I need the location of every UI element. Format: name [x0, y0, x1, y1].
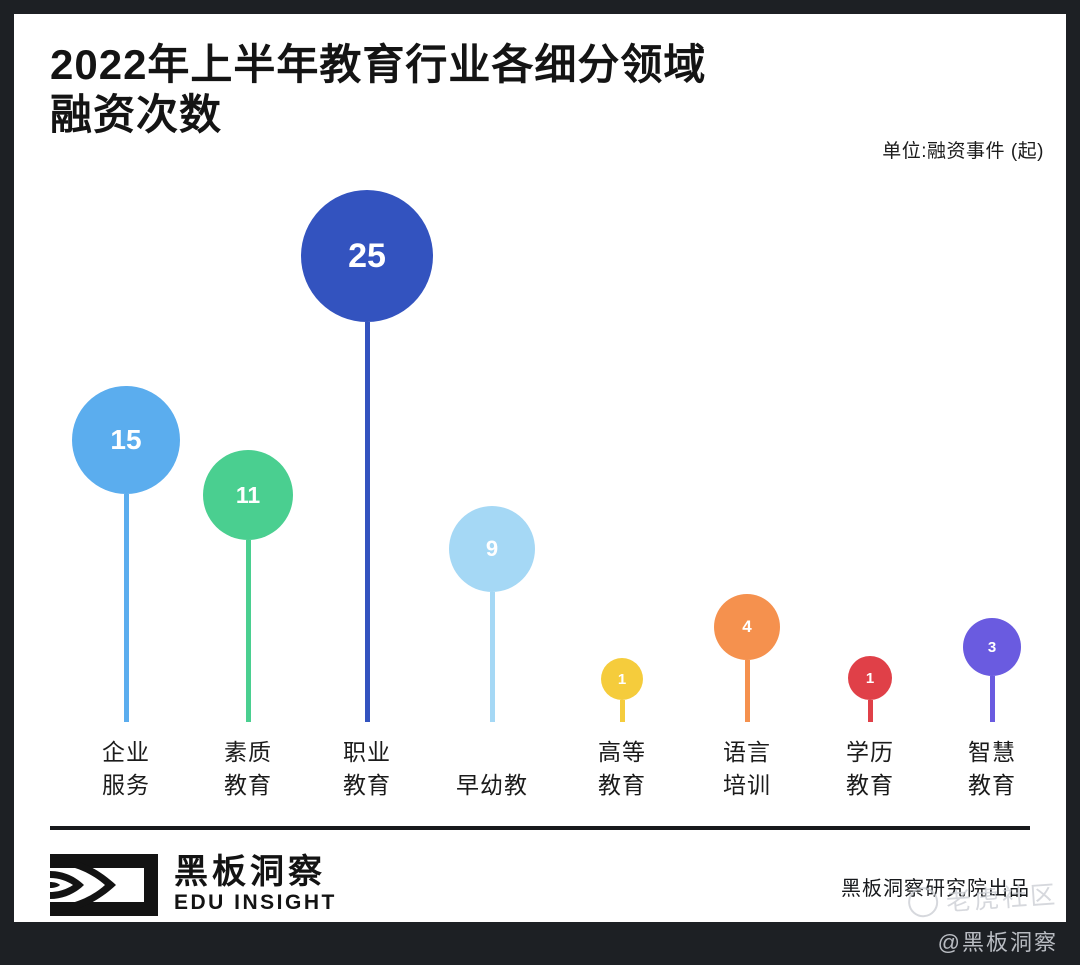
- footer-divider: [50, 826, 1030, 830]
- lollipop-marker[interactable]: 11: [203, 450, 293, 722]
- lollipop-stem: [490, 592, 495, 722]
- chart-column: 15企业 服务: [70, 172, 182, 812]
- lollipop-stem: [868, 700, 873, 722]
- bubble-value: 3: [963, 618, 1021, 676]
- lollipop-marker[interactable]: 9: [449, 506, 535, 722]
- category-label: 智慧 教育: [936, 736, 1048, 802]
- brand-name-cn: 黑板洞察: [174, 854, 337, 890]
- chart-column: 4语言 培训: [691, 172, 803, 812]
- chart-column: 1学历 教育: [814, 172, 926, 812]
- lollipop-marker[interactable]: 4: [714, 594, 780, 722]
- category-label: 企业 服务: [70, 736, 182, 802]
- bubble-value: 1: [601, 658, 643, 700]
- chart-column: 11素质 教育: [192, 172, 304, 812]
- footer: 黑板洞察 EDU INSIGHT 黑板洞察研究院出品: [50, 850, 1030, 918]
- bubble-value: 4: [714, 594, 780, 660]
- bubble-value: 1: [848, 656, 892, 700]
- screenshot-frame: 2022年上半年教育行业各细分领域 融资次数 单位:融资事件 (起) 15企业 …: [0, 0, 1080, 965]
- bubble-value: 9: [449, 506, 535, 592]
- lollipop-marker[interactable]: 1: [601, 658, 643, 722]
- chart-column: 25职业 教育: [311, 172, 423, 812]
- brand-logo-text: 黑板洞察 EDU INSIGHT: [174, 854, 337, 916]
- lollipop-marker[interactable]: 15: [72, 386, 180, 722]
- bottom-watermark: @黑板洞察: [938, 925, 1058, 957]
- lollipop-marker[interactable]: 1: [848, 656, 892, 722]
- lollipop-marker[interactable]: 25: [301, 190, 433, 722]
- category-label: 早幼教: [436, 769, 548, 802]
- chart-column: 3智慧 教育: [936, 172, 1048, 812]
- bubble-value: 25: [301, 190, 433, 322]
- lollipop-stem: [620, 700, 625, 722]
- brand-logo: 黑板洞察 EDU INSIGHT: [50, 854, 337, 916]
- lollipop-stem: [365, 322, 370, 722]
- brand-name-en: EDU INSIGHT: [174, 890, 337, 916]
- lollipop-stem: [745, 660, 750, 722]
- category-label: 素质 教育: [192, 736, 304, 802]
- page-title: 2022年上半年教育行业各细分领域 融资次数: [50, 40, 950, 140]
- category-label: 学历 教育: [814, 736, 926, 802]
- lollipop-stem: [990, 676, 995, 722]
- lollipop-marker[interactable]: 3: [963, 618, 1021, 722]
- unit-label: 单位:融资事件 (起): [882, 136, 1044, 163]
- chart-column: 1高等 教育: [566, 172, 678, 812]
- footer-credit: 黑板洞察研究院出品: [841, 872, 1030, 901]
- category-label: 职业 教育: [311, 736, 423, 802]
- lollipop-stem: [124, 494, 129, 722]
- infographic-card: 2022年上半年教育行业各细分领域 融资次数 单位:融资事件 (起) 15企业 …: [14, 14, 1066, 922]
- bubble-value: 15: [72, 386, 180, 494]
- lollipop-stem: [246, 540, 251, 722]
- category-label: 语言 培训: [691, 736, 803, 802]
- eye-logo-icon: [50, 854, 158, 916]
- chart-column: 9早幼教: [436, 172, 548, 812]
- bubble-value: 11: [203, 450, 293, 540]
- lollipop-chart: 15企业 服务11素质 教育25职业 教育9早幼教1高等 教育4语言 培训1学历…: [36, 172, 1046, 812]
- category-label: 高等 教育: [566, 736, 678, 802]
